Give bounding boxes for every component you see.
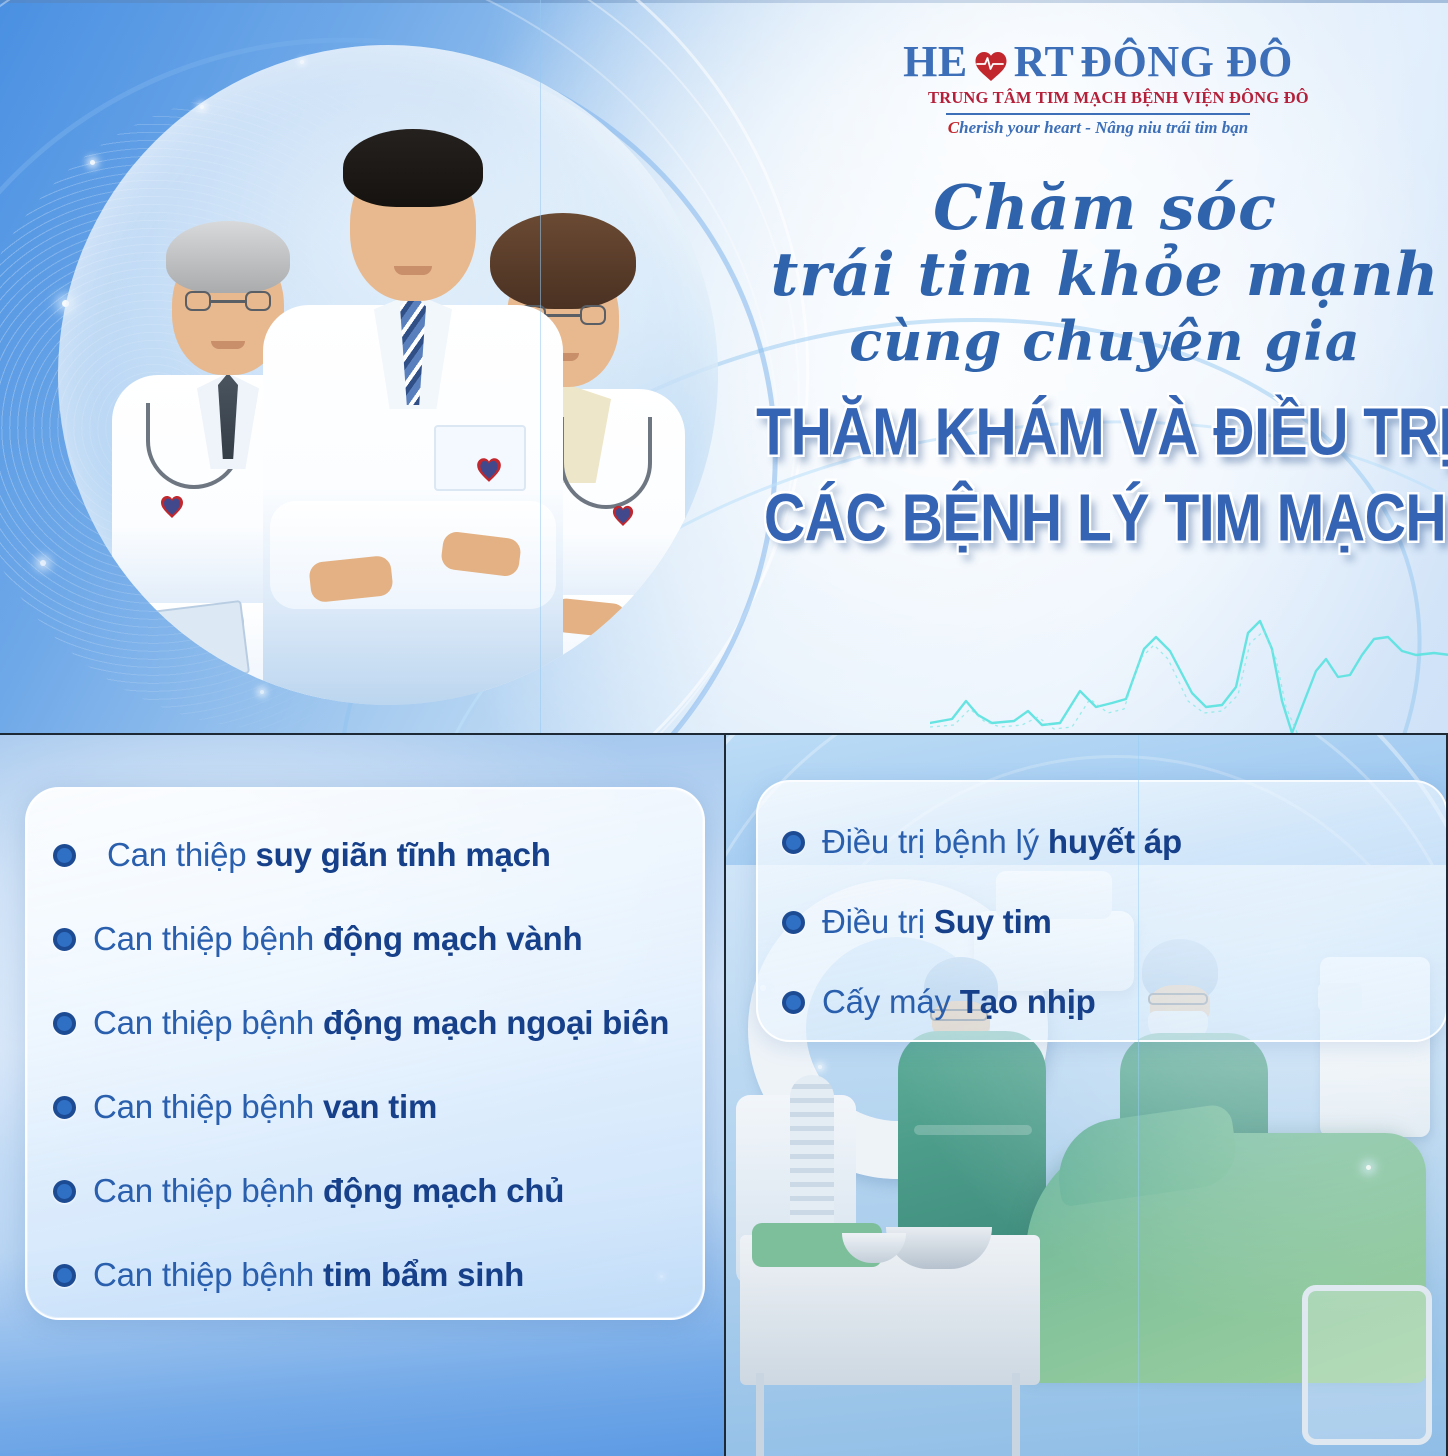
brand-name-part1: HE	[903, 40, 968, 84]
list-item[interactable]: Can thiệp bệnh động mạch ngoại biên	[53, 987, 677, 1059]
headline-block: Chăm sóc trái tim khỏe mạnh cùng chuyên …	[760, 176, 1448, 540]
brand-tagline: Cherish your heart - Nâng niu trái tim b…	[928, 118, 1268, 138]
headline-script-line-3: cùng chuyên gia	[760, 314, 1448, 369]
brand-name-part3: ĐÔNG ĐÔ	[1080, 40, 1293, 84]
headline-script: Chăm sóc trái tim khỏe mạnh cùng chuyên …	[760, 176, 1448, 370]
list-item-label: Điều trị bệnh lý huyết áp	[822, 824, 1182, 860]
bullet-icon	[53, 1180, 76, 1203]
headline-bold-line-1: THĂM KHÁM VÀ ĐIỀU TRỊ	[746, 396, 1448, 467]
hero-section: HERT ĐÔNG ĐÔ TRUNG TÂM TIM MẠCH BỆNH VIỆ…	[0, 0, 1448, 733]
hero-vertical-guide	[540, 0, 541, 733]
tagline-text: herish your heart - Nâng niu trái tim bạ…	[959, 118, 1248, 137]
list-item-label: Điều trị Suy tim	[822, 904, 1052, 940]
clinic-logo-icon	[476, 455, 502, 483]
headline-script-line-1: Chăm sóc	[760, 176, 1448, 239]
list-item[interactable]: Can thiệp bệnh van tim	[53, 1071, 677, 1143]
bullet-icon	[53, 1012, 76, 1035]
bullet-icon	[53, 1264, 76, 1287]
three-doctors-photo	[58, 45, 718, 705]
table-leg	[1012, 1373, 1020, 1456]
sparkle	[90, 160, 95, 165]
list-item[interactable]: Can thiệp bệnh động mạch vành	[53, 903, 677, 975]
poster-root: HERT ĐÔNG ĐÔ TRUNG TÂM TIM MẠCH BỆNH VIỆ…	[0, 0, 1448, 1456]
headline-bold-line-2: CÁC BỆNH LÝ TIM MẠCH	[746, 482, 1448, 553]
services-right-card: Điều trị bệnh lý huyết áp Điều trị Suy t…	[756, 780, 1448, 1042]
sparkle	[40, 560, 46, 566]
side-cart	[1302, 1285, 1432, 1445]
list-item[interactable]: Can thiệp bệnh động mạch chủ	[53, 1155, 677, 1227]
bullet-icon	[53, 1096, 76, 1119]
list-item-label: Can thiệp bệnh động mạch vành	[93, 921, 582, 957]
brand-logo: HERT ĐÔNG ĐÔ TRUNG TÂM TIM MẠCH BỆNH VIỆ…	[928, 40, 1268, 138]
services-left-card: Can thiệp suy giãn tĩnh mạch Can thiệp b…	[25, 787, 705, 1320]
ecg-waveform-icon	[930, 615, 1448, 733]
brand-name-part2: RT	[1014, 40, 1075, 84]
list-item-label: Can thiệp bệnh tim bẩm sinh	[93, 1257, 524, 1293]
brand-name: HERT ĐÔNG ĐÔ	[928, 40, 1268, 84]
list-item-label: Cấy máy Tạo nhịp	[822, 984, 1096, 1020]
bullet-icon	[782, 911, 805, 934]
list-item-label: Can thiệp bệnh động mạch chủ	[93, 1173, 564, 1209]
panel-vertical-guide	[1138, 735, 1139, 1456]
top-rule	[0, 0, 1448, 3]
brand-subtitle: TRUNG TÂM TIM MẠCH BỆNH VIỆN ĐÔNG ĐÔ	[928, 88, 1268, 108]
vertical-divider	[724, 733, 726, 1456]
list-item-label: Can thiệp suy giãn tĩnh mạch	[93, 837, 551, 873]
list-item-label: Can thiệp bệnh van tim	[93, 1089, 437, 1125]
bullet-icon	[53, 928, 76, 951]
table-leg	[756, 1373, 764, 1456]
tagline-heart-initial: C	[948, 118, 959, 137]
list-item[interactable]: Cấy máy Tạo nhịp	[782, 968, 1422, 1036]
headline-script-line-2: trái tim khỏe mạnh	[760, 245, 1448, 306]
clinic-logo-icon	[612, 503, 634, 527]
list-item-label: Can thiệp bệnh động mạch ngoại biên	[93, 1005, 669, 1041]
bullet-icon	[782, 831, 805, 854]
list-item[interactable]: Điều trị bệnh lý huyết áp	[782, 808, 1422, 876]
list-item[interactable]: Điều trị Suy tim	[782, 888, 1422, 956]
list-item[interactable]: Can thiệp bệnh tim bẩm sinh	[53, 1239, 677, 1311]
bullet-icon	[53, 844, 76, 867]
gown-tie	[914, 1125, 1032, 1135]
brand-rule	[946, 113, 1250, 115]
surgical-gown	[898, 1031, 1046, 1257]
services-right-section: PHILIPS	[726, 735, 1448, 1456]
clinic-logo-icon	[160, 493, 184, 519]
heart-icon	[974, 46, 1008, 78]
services-left-section: Can thiệp suy giãn tĩnh mạch Can thiệp b…	[0, 735, 724, 1456]
list-item[interactable]: Can thiệp suy giãn tĩnh mạch	[53, 819, 677, 891]
clipboard	[122, 600, 250, 688]
bullet-icon	[782, 991, 805, 1014]
doctor-center	[248, 105, 578, 705]
